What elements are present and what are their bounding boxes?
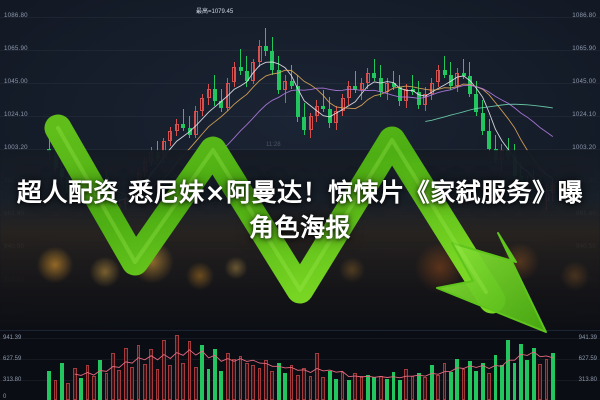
volume-bar (188, 341, 192, 400)
volume-bar (455, 359, 459, 400)
time-axis-label: 11:28 (266, 142, 281, 148)
volume-bar (347, 380, 351, 400)
volume-bar (130, 367, 134, 400)
volume-tick-label-left: 627.59 (3, 356, 21, 362)
volume-bar (251, 365, 255, 400)
volume-bar (423, 377, 427, 400)
volume-bar (124, 348, 128, 400)
volume-bar (277, 363, 281, 400)
price-tick-label-right: 1024.10 (572, 112, 596, 118)
volume-bar (328, 371, 332, 400)
volume-bar (226, 353, 230, 400)
volume-bar (149, 349, 153, 400)
volume-bar (181, 363, 185, 400)
volume-bar (143, 364, 147, 400)
headline-line-2: 角色海报 (0, 211, 600, 246)
volume-tick-label-left: 0 (3, 394, 6, 400)
volume-bar (430, 365, 434, 400)
volume-bar (168, 365, 172, 400)
headline-line-1: 超人配资 悉尼妹×阿曼达！惊悚片《家弑服务》曝 (17, 178, 583, 207)
volume-bar (392, 372, 396, 400)
volume-bar (92, 376, 96, 400)
price-tick-label-left: 1024.10 (4, 112, 28, 118)
volume-bar (449, 372, 453, 400)
volume-bar (219, 371, 223, 400)
volume-bar (207, 369, 211, 400)
volume-bar (538, 364, 542, 400)
volume-tick-label-right: 941.39 (579, 335, 597, 341)
volume-bar (175, 335, 179, 400)
volume-bar (334, 379, 338, 400)
gridline (0, 116, 600, 117)
volume-tick-label-right: 313.80 (579, 377, 597, 383)
volume-bar (60, 363, 64, 400)
volume-bar (494, 355, 498, 400)
volume-bar (500, 365, 504, 400)
poster-headline: 超人配资 悉尼妹×阿曼达！惊悚片《家弑服务》曝 角色海报 (0, 176, 600, 245)
volume-bar (270, 371, 274, 400)
volume-bar (417, 373, 421, 400)
price-tick-label-right: 1065.90 (572, 46, 596, 52)
volume-bar (117, 370, 121, 400)
stock-chart-poster: 1086.801065.901045.001024.101003.20982.3… (0, 0, 600, 400)
volume-bar (213, 349, 217, 400)
volume-bar (411, 376, 415, 400)
price-tick-label-left: 1065.90 (4, 46, 28, 52)
volume-bar (545, 359, 549, 400)
volume-bar (436, 375, 440, 400)
volume-bar (513, 363, 517, 400)
volume-tick-label-left: 941.39 (3, 335, 21, 341)
volume-tick-label-left: 313.80 (3, 377, 21, 383)
gridline (0, 50, 600, 51)
volume-bar (551, 353, 555, 400)
volume-bar (366, 375, 370, 400)
volume-bar (302, 368, 306, 400)
volume-bar (105, 373, 109, 400)
volume-bar (239, 356, 243, 400)
price-tick-label-right: 1045.00 (572, 79, 596, 85)
volume-bar (47, 371, 51, 400)
volume-bar (321, 377, 325, 400)
volume-bar (156, 369, 160, 400)
gridline (0, 17, 600, 18)
volume-bar (360, 376, 364, 400)
volume-bar (506, 340, 510, 400)
volume-bar (532, 348, 536, 400)
volume-chart-pane: 941.39627.59313.800 941.39627.59313.80 (0, 330, 600, 400)
volume-bar (315, 353, 319, 400)
volume-bar (264, 360, 268, 400)
volume-bar (487, 373, 491, 400)
volume-bar (54, 380, 58, 400)
volume-bar (468, 361, 472, 400)
volume-bar (404, 369, 408, 400)
volume-bar (372, 377, 376, 400)
volume-bar (290, 365, 294, 400)
volume-bar (398, 380, 402, 400)
volume-bar (232, 359, 236, 400)
price-tick-label-left: 1045.00 (4, 79, 28, 85)
volume-bar (341, 372, 345, 400)
volume-bar (296, 375, 300, 400)
volume-bar (283, 373, 287, 400)
volume-bar (98, 360, 102, 400)
volume-bar (443, 363, 447, 400)
volume-tick-label-right: 627.59 (579, 356, 597, 362)
high-price-annotation: 最高=1079.45 (196, 9, 233, 15)
volume-bar (162, 340, 166, 400)
price-tick-label-right: 1086.80 (572, 13, 596, 19)
volume-bar (481, 363, 485, 400)
volume-bar (73, 368, 77, 400)
volume-bar (474, 371, 478, 400)
volume-bar (111, 353, 115, 400)
volume-bar (194, 367, 198, 400)
volume-bar (200, 345, 204, 400)
volume-bar (379, 376, 383, 400)
volume-bar (385, 379, 389, 400)
volume-bar (258, 368, 262, 400)
volume-bar (137, 345, 141, 400)
volume-bar (309, 376, 313, 400)
volume-bar (353, 373, 357, 400)
volume-bar (79, 378, 83, 400)
volume-bar (66, 383, 70, 400)
gridline (0, 83, 600, 84)
price-tick-label-left: 1086.80 (4, 13, 28, 19)
volume-bar (462, 369, 466, 400)
volume-bar (519, 344, 523, 400)
volume-bar (245, 363, 249, 400)
volume-bar (86, 365, 90, 400)
volume-bar (525, 360, 529, 400)
